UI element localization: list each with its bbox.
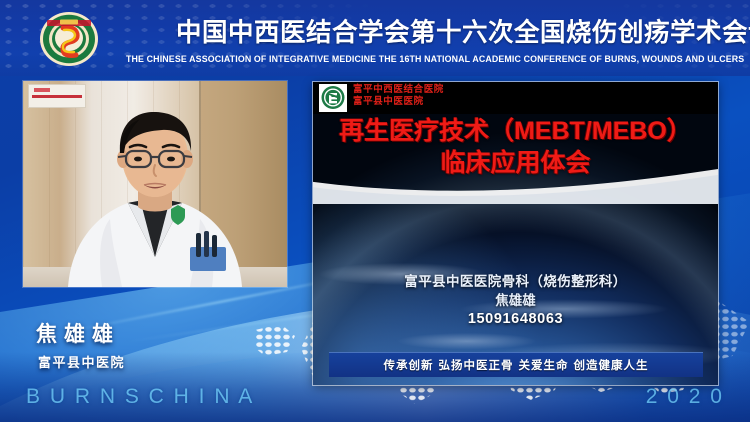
slide-department-byline: 富平县中医医院骨科（烧伤整形科） bbox=[313, 272, 718, 291]
slide-title-line2: 临床应用体会 bbox=[313, 148, 718, 179]
hospital-name-line1: 富平中西医结合医院 bbox=[353, 84, 553, 96]
hospital-name-line2: 富平县中医医院 bbox=[353, 96, 553, 108]
broadcast-screen: 中国中西医结合学会第十六次全国烧伤创疡学术会议 THE CHINESE ASSO… bbox=[0, 0, 750, 422]
conference-header-bar: 中国中西医结合学会第十六次全国烧伤创疡学术会议 THE CHINESE ASSO… bbox=[0, 0, 750, 76]
association-emblem-icon bbox=[33, 10, 105, 68]
presentation-slide-panel[interactable]: 富平中西医结合医院 富平县中医医院 再生医疗技术（MEBT/MEBO） 临床应用… bbox=[313, 82, 718, 385]
speaker-organization-overlay: 富平县中医院 bbox=[38, 352, 125, 371]
slide-presenter-name: 焦雄雄 bbox=[313, 291, 718, 310]
conference-title-en: THE CHINESE ASSOCIATION OF INTEGRATIVE M… bbox=[126, 52, 719, 66]
slide-presenter-phone: 15091648063 bbox=[313, 310, 718, 329]
event-watermark: B U R N S C H I N A 2 0 2 0 bbox=[0, 380, 750, 414]
hospital-logo-icon bbox=[319, 84, 347, 112]
watermark-event-text: B U R N S C H I N A bbox=[26, 385, 254, 409]
slide-header-strip: 富平中西医结合医院 富平县中医医院 bbox=[313, 82, 718, 114]
speaker-figure bbox=[50, 107, 260, 287]
speaker-name-overlay: 焦雄雄 bbox=[36, 318, 120, 348]
watermark-year-text: 2 0 2 0 bbox=[646, 385, 724, 409]
slide-footer-slogan: 传承创新 弘扬中医正骨 关爱生命 创造健康人生 bbox=[383, 357, 648, 373]
wall-sign bbox=[28, 84, 86, 108]
slide-title-line1: 再生医疗技术（MEBT/MEBO） bbox=[313, 116, 718, 147]
slide-footer-banner: 传承创新 弘扬中医正骨 关爱生命 创造健康人生 bbox=[329, 352, 703, 377]
conference-title-cn: 中国中西医结合学会第十六次全国烧伤创疡学术会议 bbox=[176, 18, 716, 48]
speaker-video-panel[interactable] bbox=[23, 81, 287, 287]
slide-hospital-names: 富平中西医结合医院 富平县中医医院 bbox=[353, 84, 553, 109]
